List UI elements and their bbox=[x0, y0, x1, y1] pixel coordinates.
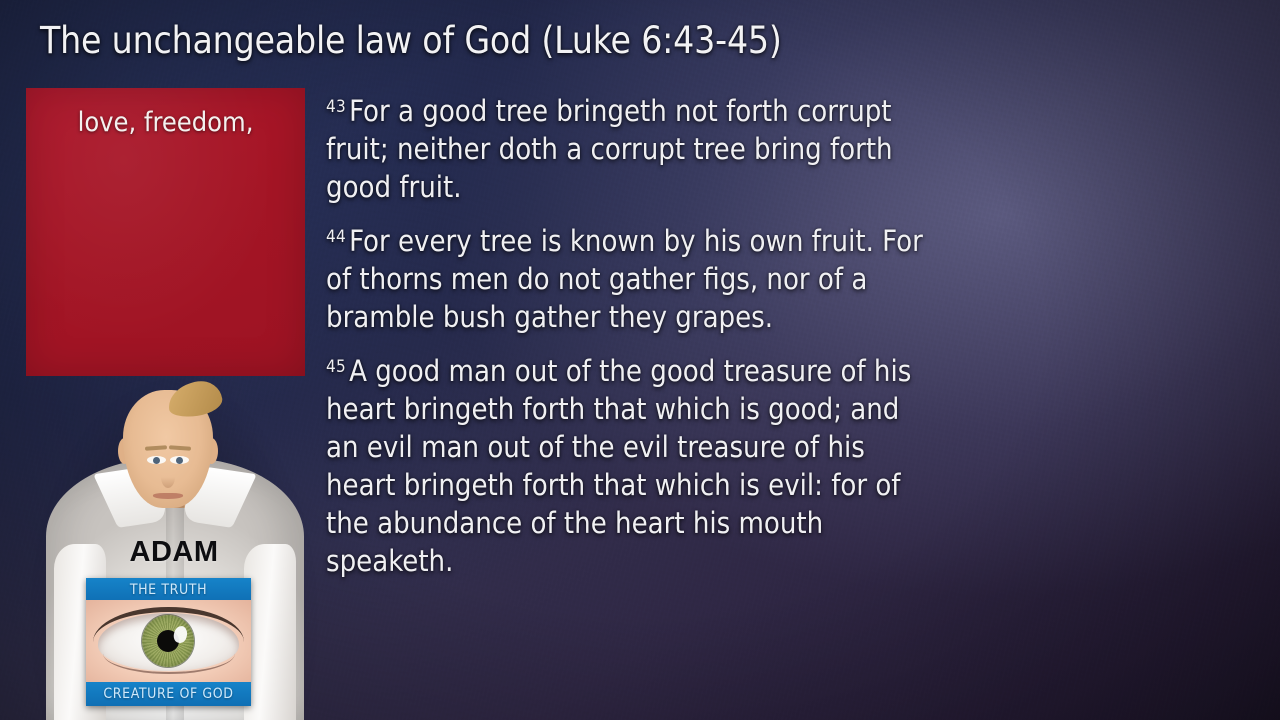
presentation-slide: The unchangeable law of God (Luke 6:43-4… bbox=[0, 0, 1280, 720]
presenter-hair-sweep bbox=[166, 378, 224, 419]
presenter-name-label: ADAM bbox=[28, 536, 320, 569]
verse-text: For a good tree bringeth not forth corru… bbox=[326, 94, 893, 204]
presenter-eye-right bbox=[170, 456, 189, 464]
eye-lashes-bottom bbox=[103, 653, 235, 673]
presenter-arm-right bbox=[244, 544, 296, 720]
keyword-panel: love, freedom, bbox=[26, 88, 305, 376]
verse-text: For every tree is known by his own fruit… bbox=[326, 224, 923, 334]
verse-text: A good man out of the good treasure of h… bbox=[326, 354, 911, 578]
presenter-nose bbox=[161, 466, 175, 488]
presenter-eye-left bbox=[147, 456, 166, 464]
truth-card-bottom-label: CREATURE OF GOD bbox=[86, 682, 251, 706]
verse-44: 44For every tree is known by his own fru… bbox=[326, 218, 938, 336]
slide-title: The unchangeable law of God (Luke 6:43-4… bbox=[40, 19, 782, 63]
presenter-head bbox=[114, 380, 222, 512]
presenter-mouth bbox=[153, 493, 183, 499]
keyword-panel-text: love, freedom, bbox=[26, 106, 305, 139]
presenter-eyebrow-left bbox=[145, 445, 167, 451]
presenter-eyebrow-right bbox=[169, 445, 191, 451]
verse-number: 44 bbox=[326, 227, 349, 247]
presenter-hair bbox=[118, 380, 218, 436]
eye-lashes-top bbox=[93, 607, 245, 642]
verse-number: 45 bbox=[326, 357, 349, 377]
verse-number: 43 bbox=[326, 97, 349, 117]
verse-43: 43For a good tree bringeth not forth cor… bbox=[326, 88, 938, 206]
truth-card: THE TRUTH CREATURE OF GOD bbox=[86, 578, 251, 706]
human-eye-icon bbox=[86, 600, 251, 684]
truth-card-top-label: THE TRUTH bbox=[86, 578, 251, 602]
verse-45: 45A good man out of the good treasure of… bbox=[326, 348, 938, 580]
scripture-passage: 43For a good tree bringeth not forth cor… bbox=[326, 88, 938, 580]
presenter-photo: ADAM THE TRUTH CREATURE OF GOD bbox=[28, 372, 320, 720]
